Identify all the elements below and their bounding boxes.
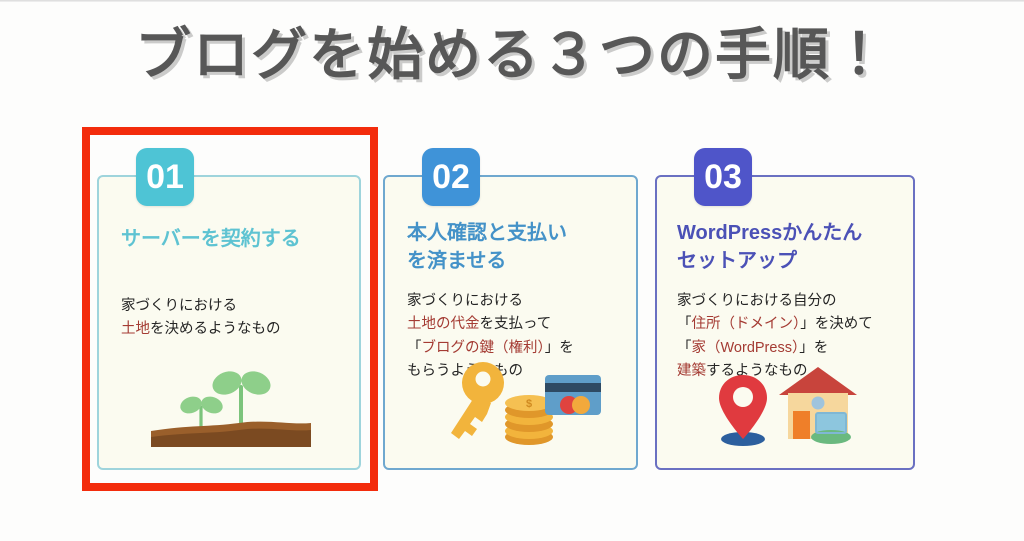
key-coins-card-icon: $	[411, 351, 611, 451]
step-body-highlight-a-03: 住所（ドメイン）	[692, 316, 801, 332]
red-highlight-box	[82, 127, 378, 491]
illustration-map-pin-house	[657, 351, 913, 456]
page-title: ブログを始める３つの手順！	[0, 24, 1024, 86]
step-card-02[interactable]: 02 本人確認と支払い を済ませる 家づくりにおける 土地の代金を支払って 「ブ…	[383, 175, 638, 470]
step-body-rest-a-03: 」を決めて	[800, 316, 873, 332]
svg-text:$: $	[525, 398, 531, 410]
map-pin-house-icon	[685, 351, 885, 451]
step-heading-02: 本人確認と支払い を済ませる	[407, 219, 567, 276]
step-card-03[interactable]: 03 WordPressかんたん セットアップ 家づくりにおける自分の 「住所（…	[655, 175, 915, 470]
step-body-line1-03: 家づくりにおける自分の	[677, 293, 837, 309]
step-body-prefix-a-03: 「	[677, 316, 692, 332]
top-divider	[0, 0, 1024, 2]
illustration-key-coins-card: $	[385, 351, 636, 456]
slide-canvas: ブログを始める３つの手順！ 01 サーバーを契約する 家づくりにおける 土地を決…	[0, 0, 1024, 541]
step-heading-03: WordPressかんたん セットアップ	[677, 219, 862, 276]
step-body-rest-a-02: を支払って	[480, 316, 552, 332]
step-number-badge-03: 03	[694, 148, 752, 206]
step-body-highlight-a-02: 土地の代金	[407, 316, 480, 332]
step-body-line1-02: 家づくりにおける	[407, 293, 523, 309]
step-number-badge-02: 02	[422, 148, 480, 206]
